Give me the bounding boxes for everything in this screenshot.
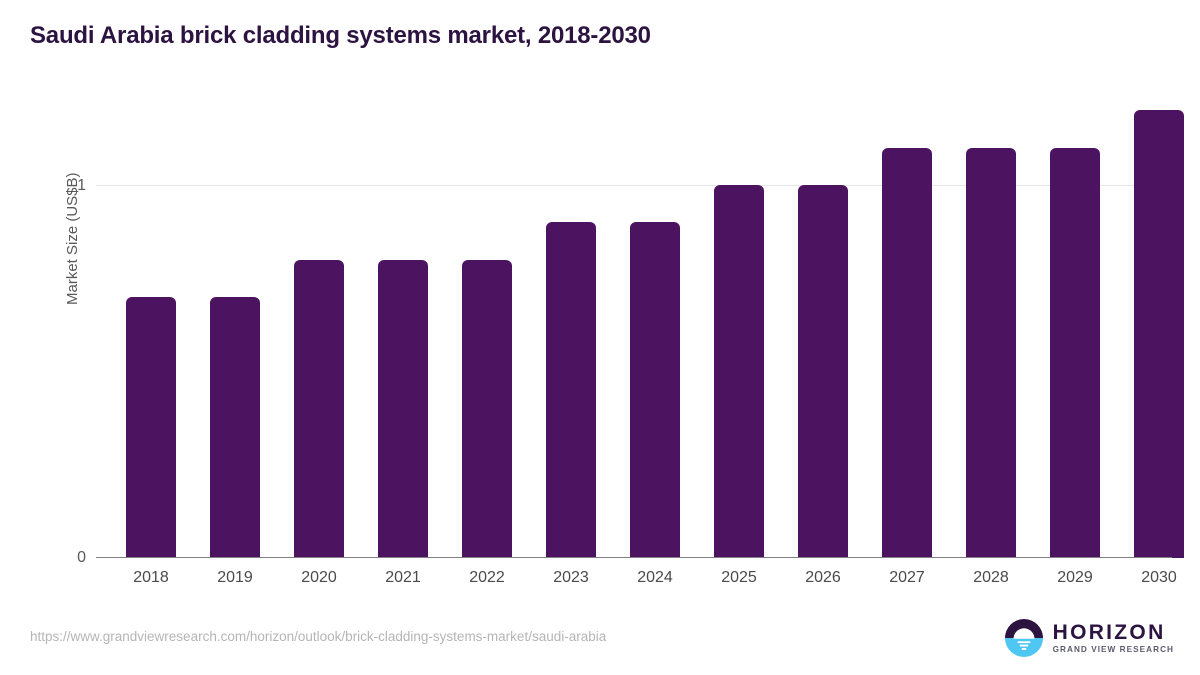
bar-group: 2018 [109,95,193,558]
logo-wordmark: HORIZON [1053,622,1174,643]
x-axis-tick-label: 2028 [949,569,1033,587]
bar-group: 2020 [277,95,361,558]
bar-group: 2028 [949,95,1033,558]
bar[interactable] [882,148,932,558]
x-axis-line [96,557,1172,558]
horizon-sunset-circle-icon [1004,618,1044,658]
bar[interactable] [966,148,1016,558]
plot-area: 1 0 Market Size (US$B) 20182019202020212… [96,95,1172,558]
bar[interactable] [1050,148,1100,558]
bar[interactable] [462,260,512,558]
bar-group: 2023 [529,95,613,558]
bar-group: 2024 [613,95,697,558]
bar-group: 2021 [361,95,445,558]
x-axis-tick-label: 2030 [1117,569,1200,587]
bar-group: 2019 [193,95,277,558]
bar-group: 2029 [1033,95,1117,558]
x-axis-tick-label: 2025 [697,569,781,587]
logo-tagline: GRAND VIEW RESEARCH [1053,646,1174,654]
horizon-logo: HORIZON GRAND VIEW RESEARCH [1004,618,1174,658]
page-title: Saudi Arabia brick cladding systems mark… [30,22,651,50]
x-axis-tick-label: 2020 [277,569,361,587]
x-axis-tick-label: 2022 [445,569,529,587]
x-axis-tick-label: 2026 [781,569,865,587]
bar[interactable] [378,260,428,558]
x-axis-tick-label: 2029 [1033,569,1117,587]
y-axis-tick-0: 0 [46,550,86,566]
bar[interactable] [798,185,848,558]
logo-text-block: HORIZON GRAND VIEW RESEARCH [1053,622,1174,654]
bar[interactable] [126,297,176,558]
bar[interactable] [294,260,344,558]
bar-group: 2025 [697,95,781,558]
bar-group: 2030 [1117,95,1200,558]
bars-layer: 2018201920202021202220232024202520262027… [96,95,1172,558]
x-axis-tick-label: 2027 [865,569,949,587]
bar[interactable] [210,297,260,558]
chart-card: Saudi Arabia brick cladding systems mark… [0,0,1200,675]
source-url[interactable]: https://www.grandviewresearch.com/horizo… [30,629,606,644]
bar[interactable] [546,222,596,558]
bar[interactable] [630,222,680,558]
x-axis-tick-label: 2019 [193,569,277,587]
bar-group: 2027 [865,95,949,558]
x-axis-tick-label: 2018 [109,569,193,587]
bar-group: 2026 [781,95,865,558]
x-axis-tick-label: 2021 [361,569,445,587]
bar-group: 2022 [445,95,529,558]
x-axis-tick-label: 2024 [613,569,697,587]
bar[interactable] [1134,110,1184,558]
x-axis-tick-label: 2023 [529,569,613,587]
y-axis-title: Market Size (US$B) [64,65,81,305]
bar[interactable] [714,185,764,558]
